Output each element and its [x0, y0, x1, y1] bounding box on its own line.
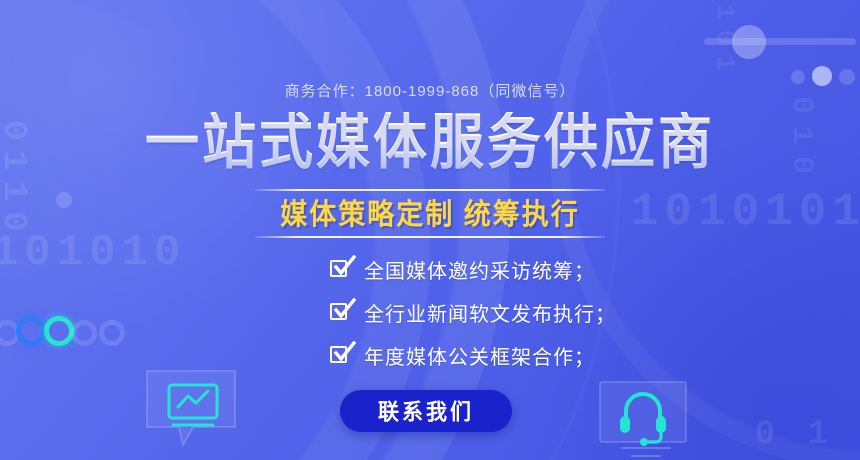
banner-subheadline: 媒体策略定制 统筹执行 [0, 196, 860, 233]
list-item: 年度媒体公关框架合作； [330, 340, 616, 370]
banner-headline: 一站式媒体服务供应商 [0, 112, 860, 172]
checkbox-checked-icon [330, 259, 350, 279]
list-item: 全国媒体邀约采访统筹； [330, 254, 616, 284]
contact-us-button[interactable]: 联系我们 [340, 390, 512, 432]
banner-content: 商务合作：1800-1999-868（同微信号） 一站式媒体服务供应商 媒体策略… [0, 0, 860, 460]
list-item-label: 全国媒体邀约采访统筹； [364, 255, 595, 284]
promo-banner: 0110 101010 1010101 010 0 1 101 [0, 0, 860, 460]
contact-us-button-label: 联系我们 [378, 395, 474, 427]
list-item-label: 年度媒体公关框架合作； [364, 341, 595, 370]
feature-bullet-list: 全国媒体邀约采访统筹； 全行业新闻软文发布执行； 年 [330, 254, 616, 383]
contact-phone-line: 商务合作：1800-1999-868（同微信号） [0, 80, 860, 101]
checkbox-checked-icon [330, 345, 350, 365]
list-item: 全行业新闻软文发布执行； [330, 297, 616, 327]
list-item-label: 全行业新闻软文发布执行； [364, 298, 616, 327]
checkbox-checked-icon [330, 302, 350, 322]
subheadline-rule-top [255, 189, 605, 191]
subheadline-rule-bottom [255, 236, 605, 238]
